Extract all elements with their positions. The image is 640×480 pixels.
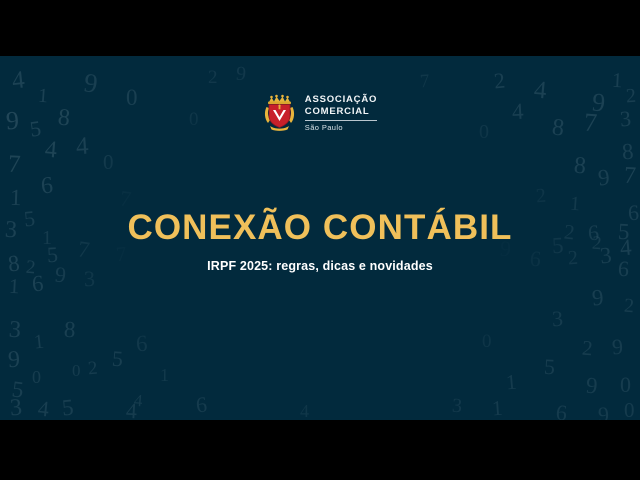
background-digit: 2 [623,296,634,317]
background-digit: 5 [61,396,74,420]
video-frame: 4910985044706175318257716933189525600434… [0,0,640,480]
background-digit: 3 [551,308,563,331]
background-digit: 9 [611,336,624,359]
background-digit: 6 [40,174,54,199]
background-digit: 0 [72,362,81,379]
background-digit: 5 [111,348,124,371]
background-digit: 9 [597,404,609,420]
letterbox-bar-bottom [0,420,640,480]
background-digit: 2 [87,359,98,379]
background-digit: 1 [491,398,503,420]
background-digit: 9 [585,374,598,398]
background-digit: 3 [451,396,462,417]
background-digit: 1 [160,366,169,384]
letterbox-bar-top [0,0,640,56]
background-digit: 0 [482,332,492,351]
background-digit: 6 [555,402,568,420]
background-digit: 3 [9,396,23,420]
background-digit: 0 [103,152,114,173]
background-digit: 1 [10,186,22,209]
background-digit: 2 [535,186,547,207]
slide-subtitle: IRPF 2025: regras, dicas e novidades [0,259,640,273]
background-digit: 9 [235,64,247,85]
background-digit: 7 [623,164,636,189]
background-digit: 4 [133,392,143,410]
background-digit: 4 [44,138,58,163]
background-digit: 5 [543,356,555,379]
background-digit: 9 [591,286,604,310]
background-digit: 4 [75,134,89,160]
presentation-slide: 4910985044706175318257716933189525600434… [0,56,640,420]
background-digit: 6 [31,272,44,296]
background-digit: 4 [37,397,50,420]
background-digit: 2 [581,338,593,360]
background-digit: 7 [7,152,21,178]
association-logo: ASSOCIAÇÃO COMERCIAL São Paulo [0,94,640,132]
background-digit: 4 [125,400,137,420]
background-digit: 4 [300,402,309,420]
background-digit: 2 [493,69,506,92]
background-digit: 8 [573,154,587,179]
background-digit: 8 [63,318,76,342]
logo-city: São Paulo [305,123,343,132]
background-digit: 0 [32,368,41,386]
background-digit: 1 [33,332,45,353]
background-digit: 1 [8,276,20,298]
slide-headline: CONEXÃO CONTÁBIL [0,208,640,248]
logo-divider [305,120,377,121]
background-digit: 7 [419,72,430,92]
background-digit: 4 [11,67,26,93]
background-digit: 0 [624,400,635,420]
background-digit: 9 [7,348,20,373]
background-digit: 9 [597,165,611,189]
association-crest-icon [263,94,296,131]
background-digit: 0 [620,374,631,396]
background-digit: 6 [135,332,148,356]
logo-wordmark: ASSOCIAÇÃO COMERCIAL São Paulo [305,94,377,132]
background-digit: 6 [195,393,208,416]
background-digit: 8 [621,140,634,164]
background-digit: 1 [505,372,517,394]
background-digit: 3 [8,318,22,343]
background-digit: 1 [611,70,623,92]
background-digit: 5 [11,377,25,401]
logo-line-2: COMERCIAL [305,106,370,118]
background-digit: 2 [208,68,218,87]
logo-line-1: ASSOCIAÇÃO [305,94,377,106]
